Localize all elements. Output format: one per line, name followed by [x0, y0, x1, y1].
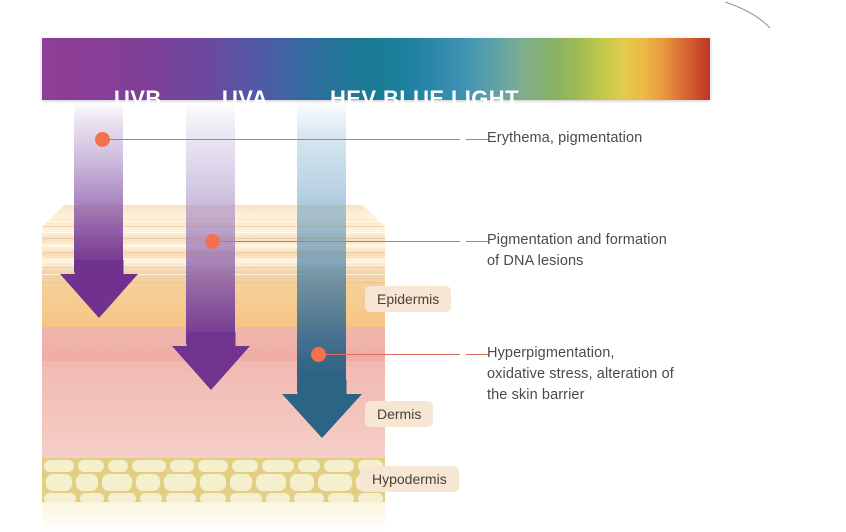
- callout-leader-3: [326, 354, 460, 355]
- callout-leader-dash-1: [466, 139, 488, 140]
- beam-uva-arrowhead: [172, 332, 250, 390]
- light-spectrum-bar: UVB 290-320nm UVA 320-400nm HEV BLUE LIG…: [42, 38, 710, 100]
- layer-label-hypodermis: Hypodermis: [360, 466, 459, 492]
- beam-uvb-shaft: [74, 100, 123, 272]
- annotation-1: Erythema, pigmentation: [487, 128, 642, 149]
- spectrum-band-hev: HEV BLUE LIGHT 400-450nm: [330, 88, 519, 128]
- annotation-2: Pigmentation and formation of DNA lesion…: [487, 230, 667, 272]
- spectrum-band-hev-title: HEV BLUE LIGHT: [330, 88, 519, 110]
- annotation-3-line-3: the skin barrier: [487, 385, 674, 406]
- spectrum-band-hev-range: 400-450nm: [330, 116, 519, 128]
- beam-hev: [297, 100, 346, 438]
- annotation-3-line-1: Hyperpigmentation,: [487, 343, 674, 364]
- annotation-2-line-2: of DNA lesions: [487, 251, 667, 272]
- beam-uvb-arrowhead: [60, 260, 138, 318]
- callout-leader-dash-3: [466, 354, 488, 355]
- callout-leader-1: [110, 139, 460, 140]
- callout-leader-2: [220, 241, 460, 242]
- beam-hev-arrowhead: [282, 380, 362, 438]
- fat-cell-row: [42, 474, 385, 491]
- annotation-1-line-1: Erythema, pigmentation: [487, 128, 642, 149]
- beam-uva-shaft: [186, 100, 235, 344]
- layer-label-epidermis: Epidermis: [365, 286, 451, 312]
- callout-dot-1[interactable]: [95, 132, 110, 147]
- annotation-2-line-1: Pigmentation and formation: [487, 230, 667, 251]
- hypodermis-fade: [42, 502, 385, 532]
- fat-cell-row: [42, 460, 385, 472]
- layer-label-dermis: Dermis: [365, 401, 433, 427]
- annotation-3: Hyperpigmentation, oxidative stress, alt…: [487, 343, 674, 406]
- callout-leader-dash-2: [466, 241, 488, 242]
- skin-layer-hypodermis: [42, 458, 385, 502]
- decorative-corner-stroke: [700, 0, 846, 60]
- annotation-3-line-2: oxidative stress, alteration of: [487, 364, 674, 385]
- callout-dot-2[interactable]: [205, 234, 220, 249]
- infographic-canvas: UVB 290-320nm UVA 320-400nm HEV BLUE LIG…: [0, 0, 846, 525]
- callout-dot-3[interactable]: [311, 347, 326, 362]
